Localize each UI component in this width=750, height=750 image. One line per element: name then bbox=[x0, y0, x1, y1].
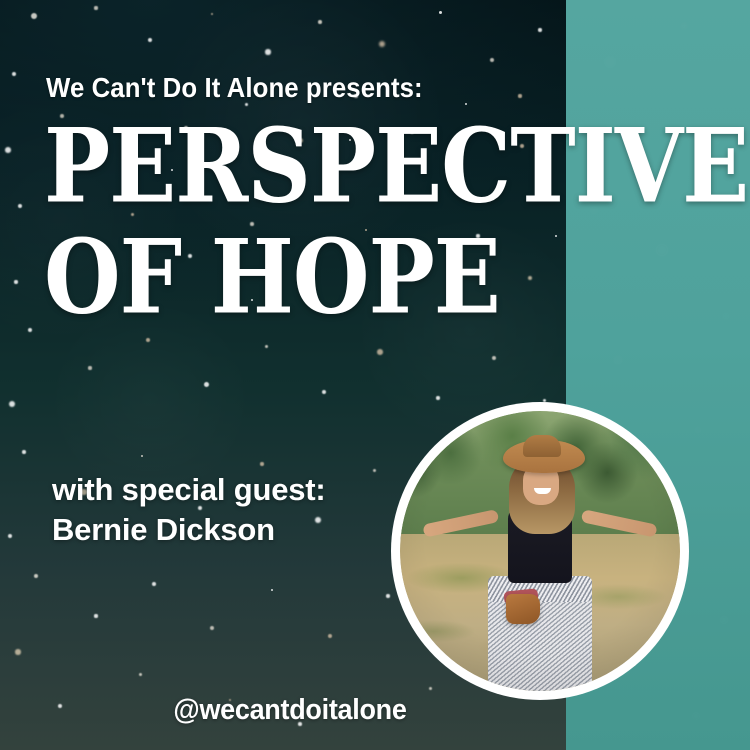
presents-line: We Can't Do It Alone presents: bbox=[46, 72, 423, 104]
photo-vignette bbox=[400, 411, 680, 691]
teal-speck bbox=[719, 615, 729, 625]
teal-speck bbox=[604, 56, 616, 68]
guest-name: Bernie Dickson bbox=[52, 510, 326, 550]
guest-photo-circle bbox=[400, 411, 680, 691]
page-title: Perspective of Hope bbox=[44, 119, 750, 311]
title-line-2: of Hope bbox=[44, 230, 750, 324]
guest-label: with special guest: bbox=[52, 470, 326, 510]
teal-speck bbox=[694, 426, 702, 434]
guest-photo bbox=[400, 411, 680, 691]
social-handle: @wecantdoitalone bbox=[20, 694, 559, 727]
guest-block: with special guest: Bernie Dickson bbox=[52, 470, 326, 549]
teal-speck bbox=[691, 711, 701, 721]
title-line-1: Perspective bbox=[44, 119, 750, 213]
poster-canvas: We Can't Do It Alone presents: Perspecti… bbox=[0, 0, 750, 750]
teal-speck bbox=[680, 22, 688, 30]
teal-speck bbox=[613, 355, 623, 365]
